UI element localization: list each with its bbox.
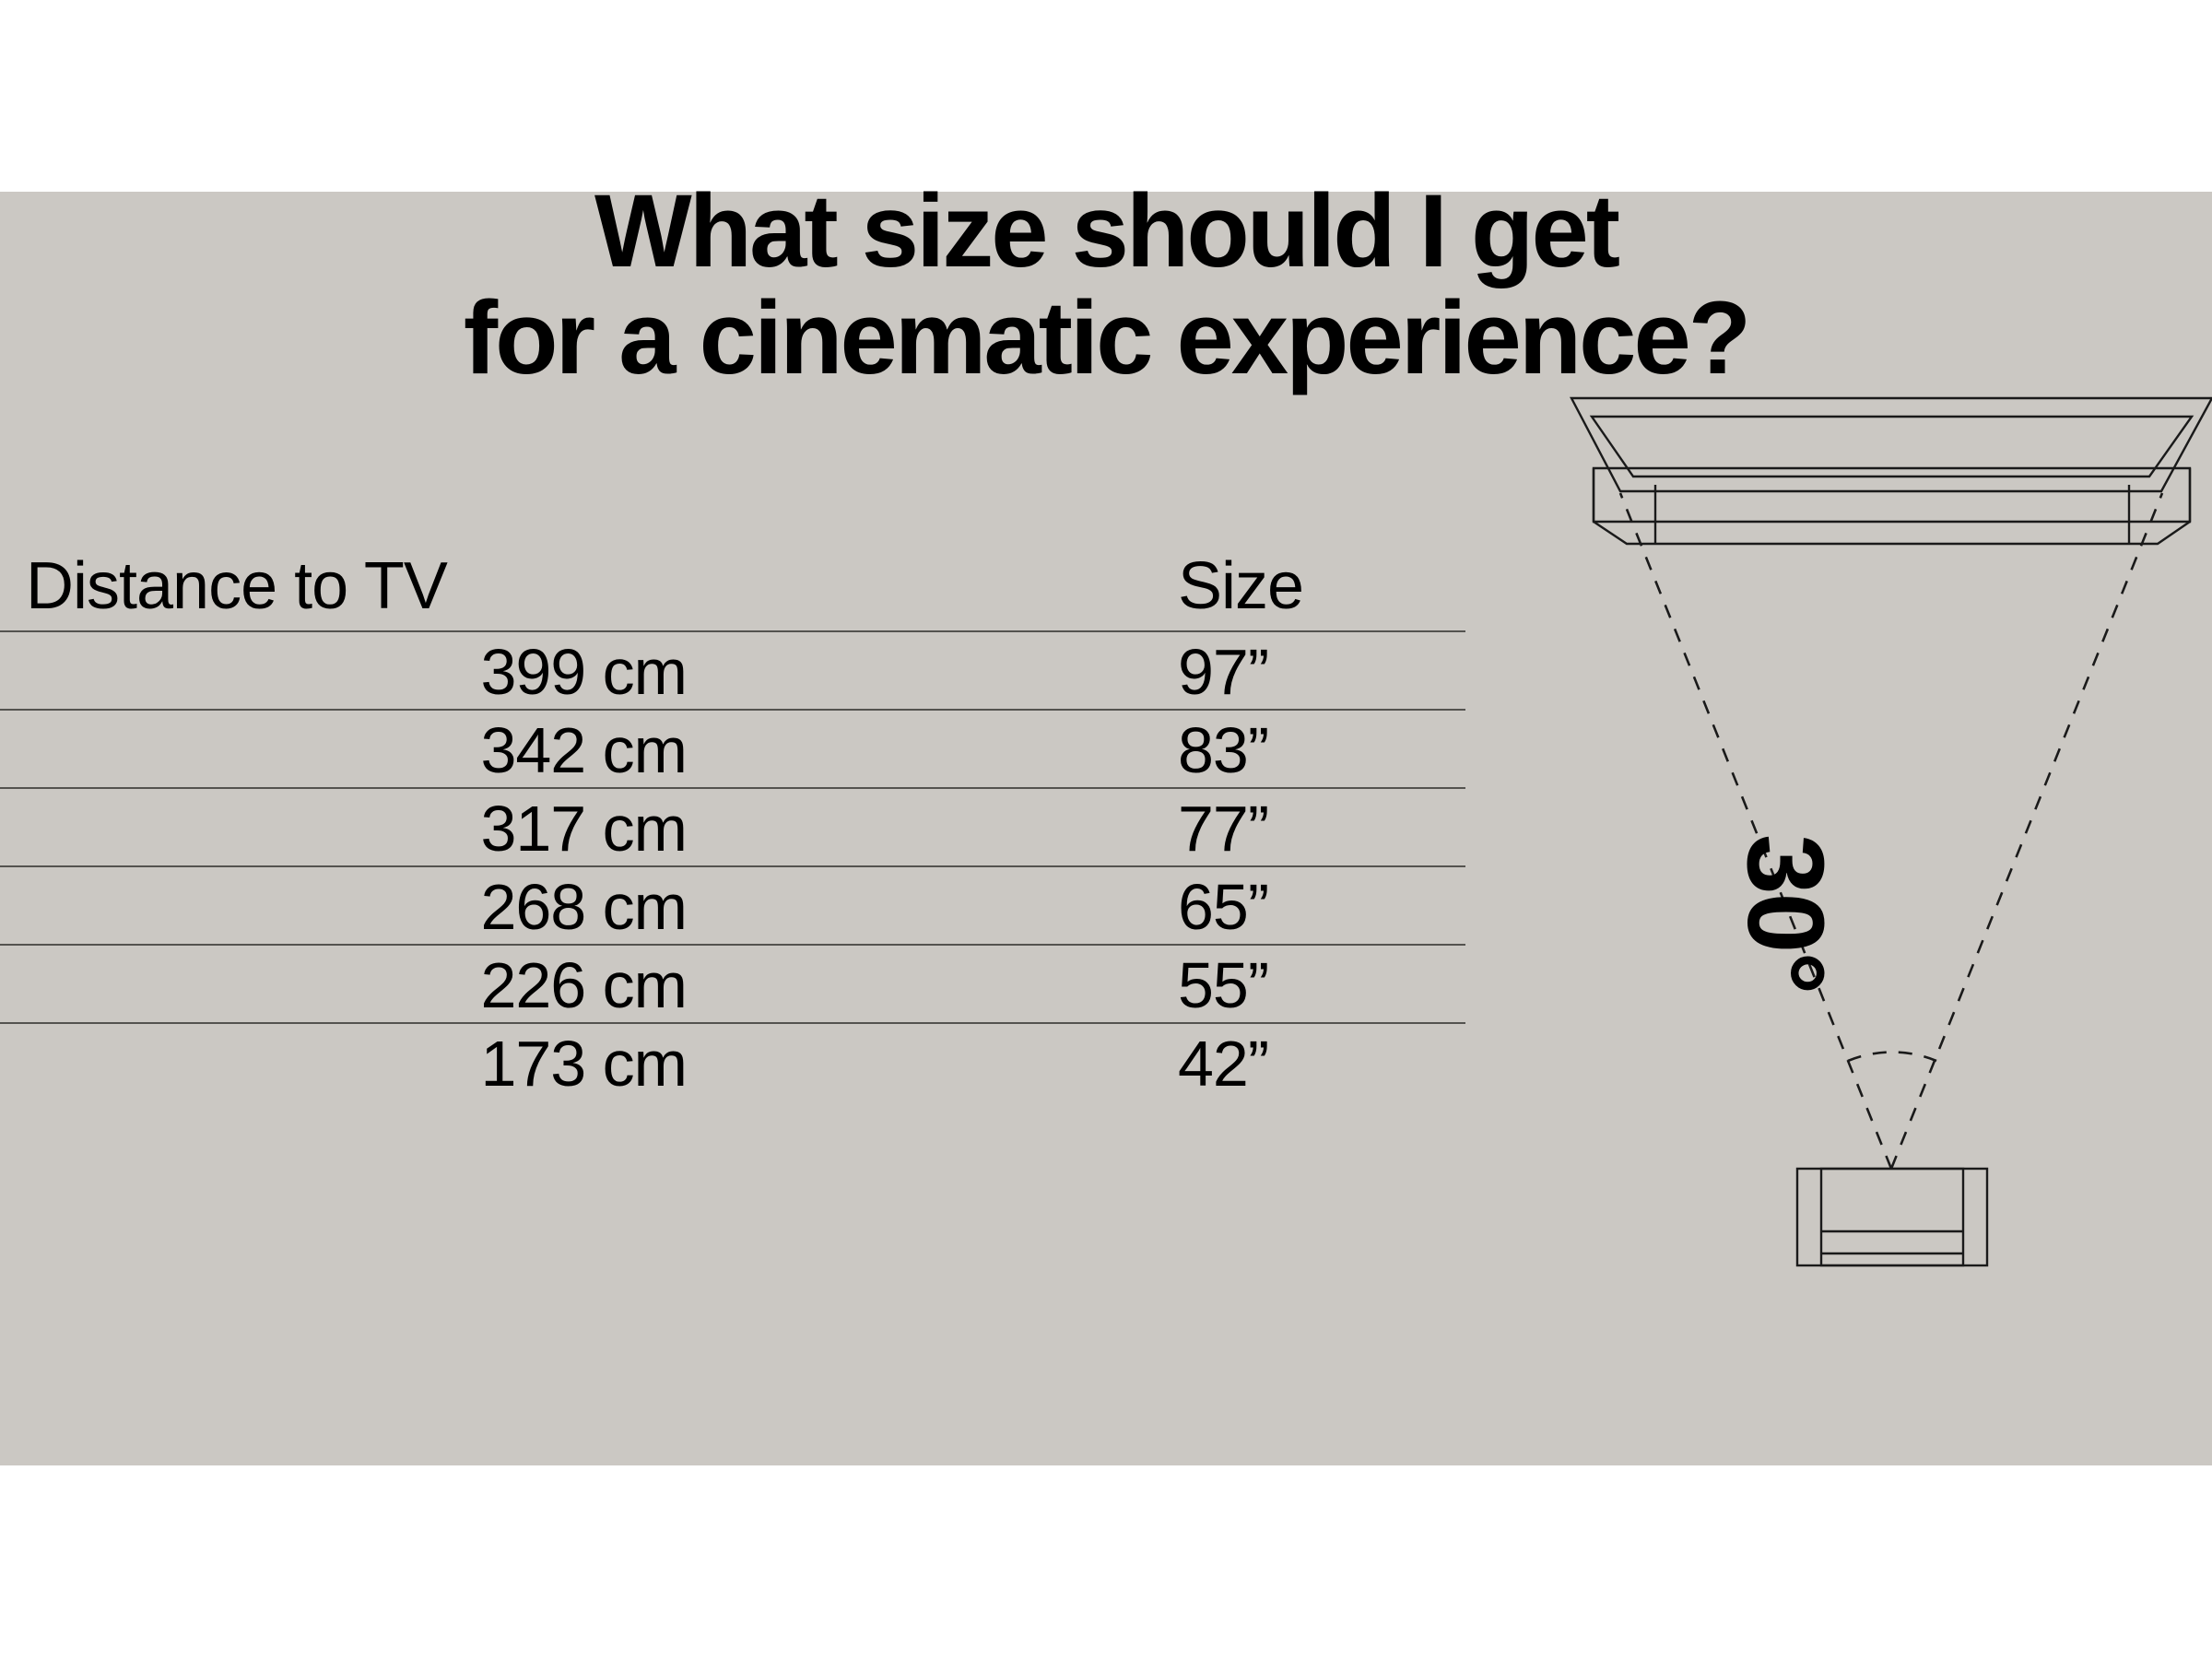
cell-size: 77” [1178, 789, 1473, 867]
table-row: 173 cm 42” [0, 1024, 1465, 1102]
viewing-angle-label: 30° [1723, 834, 1848, 993]
viewing-cone-lines [1620, 493, 2162, 1169]
infographic-canvas: What size should I get for a cinematic e… [0, 0, 2212, 1659]
table-header-row: Distance to TV Size [0, 540, 1465, 632]
cell-distance: 173 cm [0, 1024, 687, 1102]
cell-distance: 226 cm [0, 946, 687, 1024]
cell-size: 42” [1178, 1024, 1473, 1102]
cell-distance: 268 cm [0, 867, 687, 946]
cell-size: 97” [1178, 632, 1473, 711]
table-row: 399 cm 97” [0, 632, 1465, 711]
tv-screen-outline [1571, 398, 2212, 491]
cell-size: 65” [1178, 867, 1473, 946]
tv-base-outline [1594, 468, 2190, 544]
column-header-distance: Distance to TV [0, 540, 712, 632]
cell-distance: 342 cm [0, 711, 687, 789]
viewing-angle-diagram [1567, 175, 2212, 1267]
size-recommendation-table: Distance to TV Size 399 cm 97” 342 cm 83… [0, 540, 1465, 1102]
table-row: 268 cm 65” [0, 867, 1465, 946]
table-row: 226 cm 55” [0, 946, 1465, 1024]
cell-distance: 317 cm [0, 789, 687, 867]
table-row: 317 cm 77” [0, 789, 1465, 867]
sofa-outline [1797, 1169, 1987, 1265]
cell-distance: 399 cm [0, 632, 687, 711]
table-row: 342 cm 83” [0, 711, 1465, 789]
cell-size: 55” [1178, 946, 1473, 1024]
cell-size: 83” [1178, 711, 1473, 789]
column-header-size: Size [1178, 540, 1473, 632]
